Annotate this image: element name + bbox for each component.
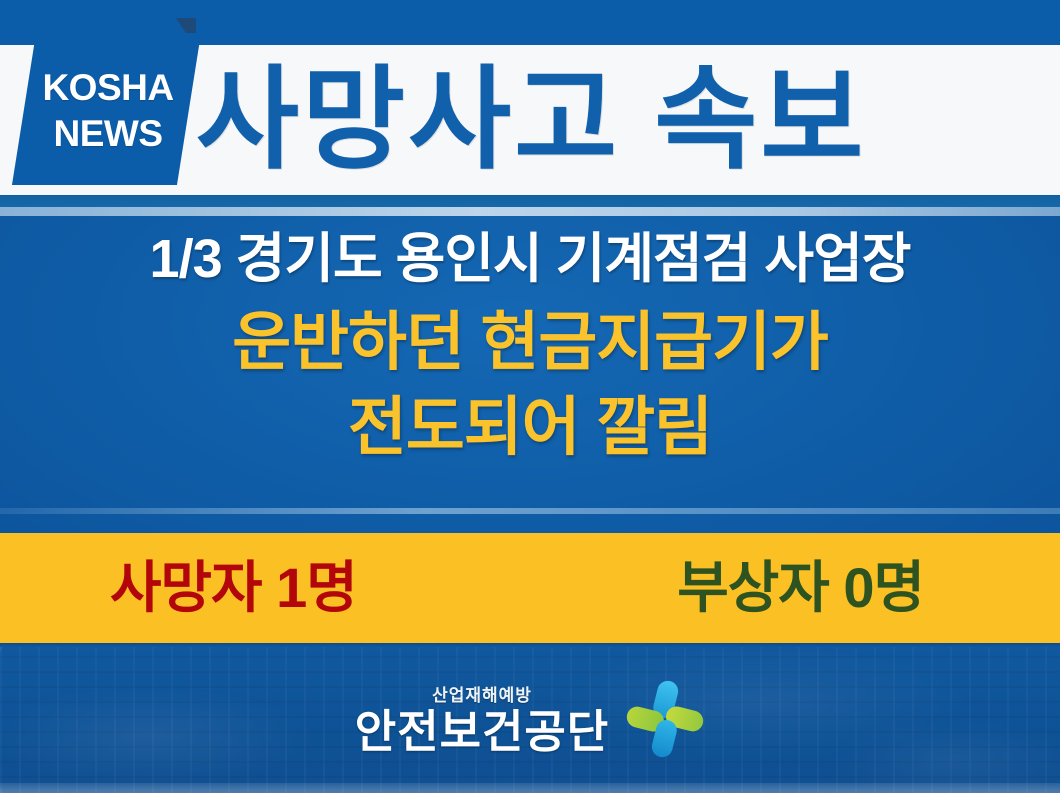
kosha-news-badge xyxy=(12,33,201,185)
accident-headline-line-1: 운반하던 현금지급기가 xyxy=(0,300,1060,385)
accident-subject: 1/3 경기도 용인시 기계점검 사업장 xyxy=(0,230,1060,288)
kosha-news-poster: KOSHA NEWS 사망사고 속보 1/3 경기도 용인시 기계점검 사업장 … xyxy=(0,0,1060,793)
poster-header: KOSHA NEWS 사망사고 속보 xyxy=(0,0,1060,196)
header-divider-upper xyxy=(0,196,1060,207)
header-divider-lower xyxy=(0,207,1060,216)
casualty-summary-bar: 사망자 1명 부상자 0명 xyxy=(0,533,1060,643)
accident-headline-line-2: 전도되어 깔림 xyxy=(0,385,1060,470)
kosha-organization-logo: 산업재해예방 안전보건공단 xyxy=(0,643,1060,793)
kosha-pinwheel-logo-icon xyxy=(625,679,705,759)
poster-footer: 산업재해예방 안전보건공단 xyxy=(0,643,1060,793)
accident-body: 1/3 경기도 용인시 기계점검 사업장 운반하던 현금지급기가 전도되어 깔림 xyxy=(0,216,1060,533)
deaths-count: 사망자 1명 xyxy=(110,560,357,616)
accident-headline: 운반하던 현금지급기가 전도되어 깔림 xyxy=(0,300,1060,470)
footer-bottom-edge xyxy=(0,783,1060,793)
page-title: 사망사고 속보 xyxy=(196,45,1026,195)
footer-tagline: 산업재해예방 xyxy=(432,681,532,706)
injuries-count: 부상자 0명 xyxy=(677,560,924,616)
footer-organization-name: 안전보건공단 xyxy=(355,708,609,755)
kosha-wordmark: 산업재해예방 안전보건공단 xyxy=(355,681,609,755)
body-sheen-line xyxy=(0,508,1060,514)
